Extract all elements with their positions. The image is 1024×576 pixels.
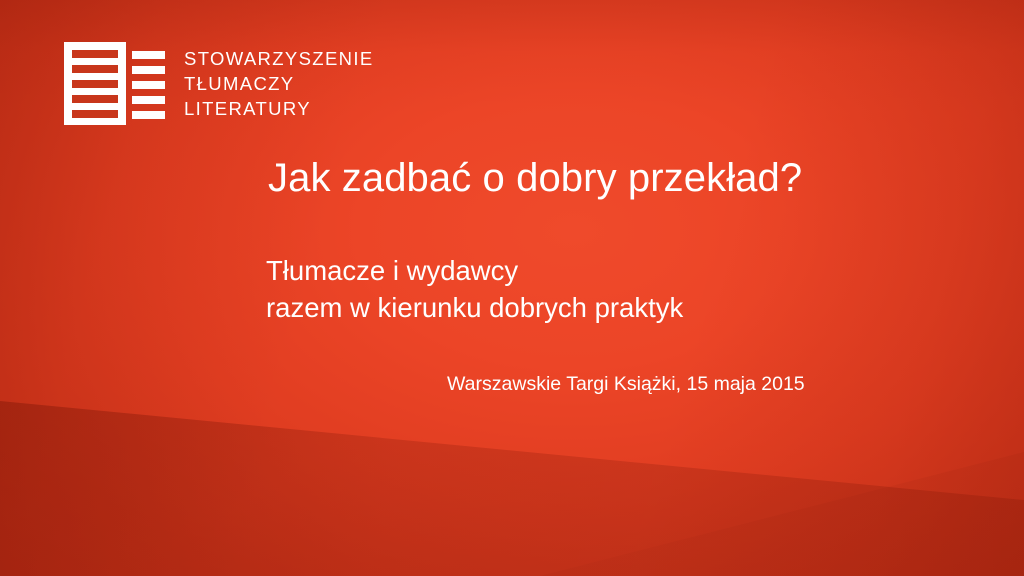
- slide-subtitle-line-1: Tłumacze i wydawcy: [266, 252, 683, 289]
- logo-side-bar: [132, 81, 165, 89]
- logo-page-stripe: [72, 110, 118, 118]
- organization-logo: STOWARZYSZENIE TŁUMACZY LITERATURY: [64, 42, 374, 125]
- slide-title: Jak zadbać o dobry przekład?: [268, 154, 802, 202]
- logo-page-stripe: [72, 80, 118, 88]
- slide-subtitle-line-2: razem w kierunku dobrych praktyk: [266, 289, 683, 326]
- slide-event-footnote: Warszawskie Targi Książki, 15 maja 2015: [447, 371, 805, 397]
- organization-name: STOWARZYSZENIE TŁUMACZY LITERATURY: [184, 42, 374, 121]
- logo-page-icon: [64, 42, 126, 125]
- logo-side-bar: [132, 96, 165, 104]
- striped-page-logo-mark-icon: [64, 42, 165, 125]
- presentation-slide: STOWARZYSZENIE TŁUMACZY LITERATURY Jak z…: [0, 0, 1024, 576]
- organization-name-line-2: TŁUMACZY: [184, 71, 374, 96]
- logo-side-bar: [132, 111, 165, 119]
- logo-page-stripe: [72, 95, 118, 103]
- organization-name-line-3: LITERATURY: [184, 96, 374, 121]
- logo-page-stripe: [72, 50, 118, 58]
- logo-side-bar: [132, 66, 165, 74]
- logo-side-bars-icon: [132, 42, 165, 125]
- logo-side-bar: [132, 51, 165, 59]
- slide-subtitle: Tłumacze i wydawcy razem w kierunku dobr…: [266, 252, 683, 326]
- logo-page-stripe: [72, 65, 118, 73]
- organization-name-line-1: STOWARZYSZENIE: [184, 46, 374, 71]
